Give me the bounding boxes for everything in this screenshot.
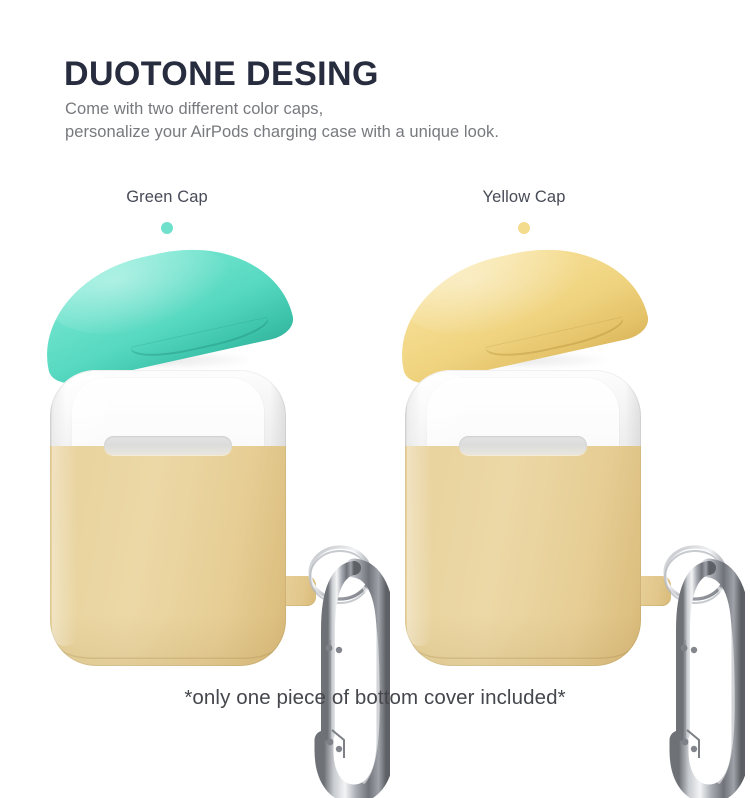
case-bottom-lip-green xyxy=(58,643,278,659)
case-left-edge-yellow xyxy=(405,370,421,450)
case-bottom-lip-yellow xyxy=(413,643,633,659)
cap-rim-groove-yellow xyxy=(486,317,626,364)
page-subtitle: Come with two different color caps, pers… xyxy=(65,98,499,145)
carabiner-clip-icon-green xyxy=(294,544,390,798)
airpods-case-yellow xyxy=(405,370,641,666)
color-swatch-dot-yellow xyxy=(518,222,530,234)
cap-body-yellow xyxy=(384,228,651,388)
product-marketing-image: DUOTONE DESING Come with two different c… xyxy=(0,0,750,750)
hinge-slot-icon-green xyxy=(104,436,232,455)
cap-body-green xyxy=(29,228,296,388)
footer-disclaimer: *only one piece of bottom cover included… xyxy=(184,686,565,710)
product-label-green: Green Cap xyxy=(126,188,208,207)
hinge-slot-icon-yellow xyxy=(459,436,587,455)
case-cream-bottom-cover-green xyxy=(50,446,286,666)
product-green-cap xyxy=(30,240,330,680)
product-label-yellow: Yellow Cap xyxy=(483,188,566,207)
case-left-edge-green xyxy=(50,370,66,450)
carabiner-clip-icon-yellow xyxy=(649,544,745,798)
case-shell-yellow xyxy=(405,370,641,666)
case-shell-green xyxy=(50,370,286,666)
case-right-edge-yellow xyxy=(625,370,641,450)
case-cream-bottom-cover-yellow xyxy=(405,446,641,666)
color-swatch-dot-green xyxy=(161,222,173,234)
page-title: DUOTONE DESING xyxy=(64,57,379,93)
case-right-edge-green xyxy=(270,370,286,450)
page-subtitle-line-1: Come with two different color caps, xyxy=(65,100,323,118)
product-yellow-cap xyxy=(385,240,685,680)
page-subtitle-line-2: personalize your AirPods charging case w… xyxy=(65,121,499,144)
airpods-case-green xyxy=(50,370,286,666)
cap-rim-groove-green xyxy=(131,317,271,364)
